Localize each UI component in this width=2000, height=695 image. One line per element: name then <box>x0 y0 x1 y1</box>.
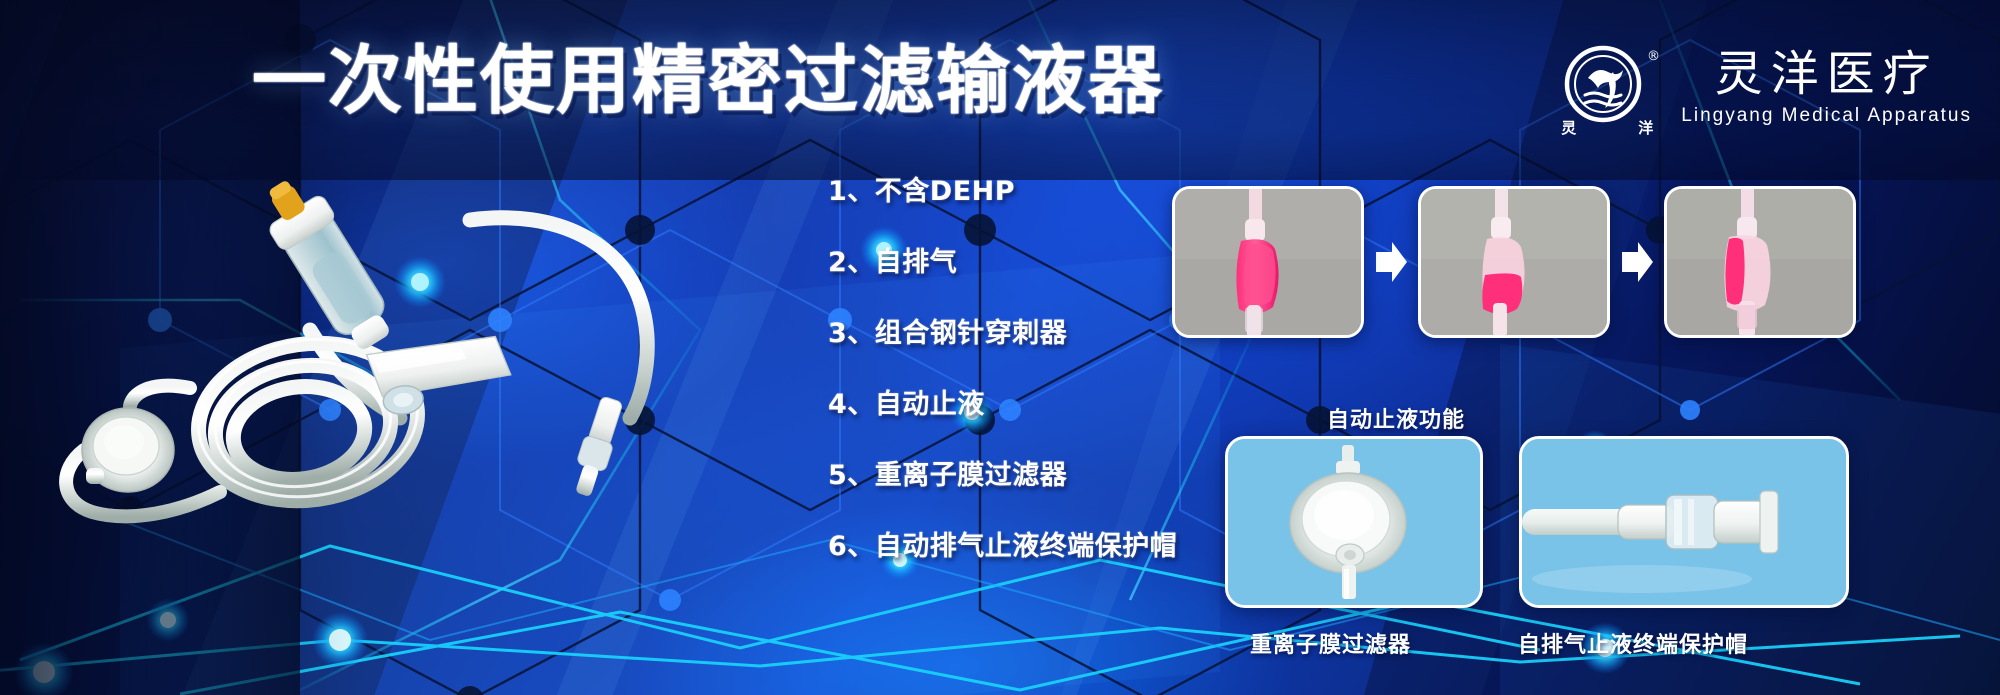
feature-item-4: 4、自动止液 <box>828 391 1188 418</box>
feature-item-6: 6、自动排气止液终端保护帽 <box>828 533 1188 560</box>
sequence-caption: 自动止液功能 <box>1327 402 1465 434</box>
product-photo <box>40 150 660 540</box>
auto-stop-sequence <box>1172 186 1856 338</box>
part-caption-filter: 重离子膜过滤器 <box>1250 627 1411 659</box>
feature-item-2: 2、自排气 <box>828 249 1188 276</box>
feature-item-1: 1、不含DEHP <box>828 178 1188 205</box>
lingyang-emblem-icon: ® 灵 洋 <box>1555 42 1659 134</box>
brand-logo: ® 灵 洋 灵洋医疗 Lingyang Medical Apparatus <box>1555 42 1972 134</box>
brand-text: 灵洋医疗 Lingyang Medical Apparatus <box>1681 49 1972 127</box>
part-panels <box>1225 436 1849 608</box>
emblem-char-left: 灵 <box>1561 117 1576 138</box>
sequence-photo-2 <box>1418 186 1610 338</box>
feature-list: 1、不含DEHP 2、自排气 3、组合钢针穿刺器 4、自动止液 5、重离子膜过滤… <box>828 178 1188 560</box>
brand-name-cn: 灵洋医疗 <box>1715 49 1939 101</box>
svg-text:®: ® <box>1647 49 1659 64</box>
page-title: 一次性使用精密过滤输液器 <box>252 44 1164 118</box>
part-panel-cap <box>1519 436 1849 608</box>
sequence-arrow-1 <box>1364 240 1418 284</box>
part-caption-cap: 自排气止液终端保护帽 <box>1518 627 1748 659</box>
feature-item-3: 3、组合钢针穿刺器 <box>828 320 1188 347</box>
product-banner: 一次性使用精密过滤输液器 ® 灵 洋 灵洋医疗 Lingyang Medical… <box>0 0 2000 695</box>
sequence-photo-3 <box>1664 186 1856 338</box>
feature-item-5: 5、重离子膜过滤器 <box>828 462 1188 489</box>
brand-name-en: Lingyang Medical Apparatus <box>1681 105 1972 127</box>
sequence-arrow-2 <box>1610 240 1664 284</box>
sequence-photo-1 <box>1172 186 1364 338</box>
part-panel-filter <box>1225 436 1483 608</box>
emblem-char-right: 洋 <box>1638 117 1653 138</box>
